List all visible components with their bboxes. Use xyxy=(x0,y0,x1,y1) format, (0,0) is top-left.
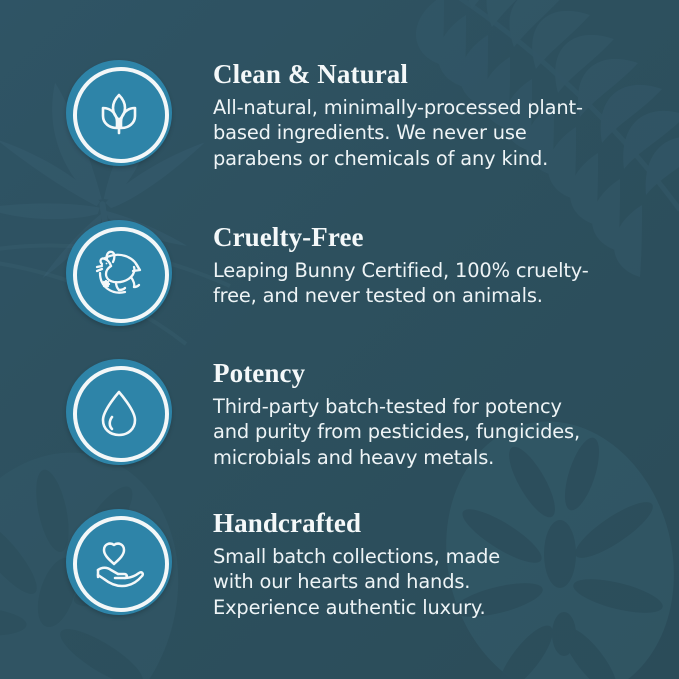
plant-leaf-icon xyxy=(89,83,149,143)
water-droplet-badge xyxy=(66,359,172,465)
feature-body: All-natural, minimally-processed plant- … xyxy=(213,95,633,171)
feature-text-potency: Potency Third-party batch-tested for pot… xyxy=(213,359,633,470)
hand-holding-heart-badge xyxy=(66,509,172,615)
feature-text-cruelty-free: Cruelty-Free Leaping Bunny Certified, 10… xyxy=(213,223,633,309)
feature-body: Leaping Bunny Certified, 100% cruelty- f… xyxy=(213,258,633,309)
plant-leaf-badge xyxy=(66,60,172,166)
feature-title: Clean & Natural xyxy=(213,60,633,90)
feature-title: Handcrafted xyxy=(213,509,633,539)
feature-title: Cruelty-Free xyxy=(213,223,633,253)
feature-body: Small batch collections, made with our h… xyxy=(213,544,633,620)
water-droplet-icon xyxy=(89,382,149,442)
feature-text-clean-natural: Clean & Natural All-natural, minimally-p… xyxy=(213,60,633,171)
hand-holding-heart-icon xyxy=(87,530,151,594)
feature-text-handcrafted: Handcrafted Small batch collections, mad… xyxy=(213,509,633,620)
leaping-bunny-icon xyxy=(86,240,152,306)
leaping-bunny-badge xyxy=(66,220,172,326)
feature-body: Third-party batch-tested for potency and… xyxy=(213,394,633,470)
feature-list-panel: Clean & Natural All-natural, minimally-p… xyxy=(0,0,679,679)
feature-title: Potency xyxy=(213,359,633,389)
